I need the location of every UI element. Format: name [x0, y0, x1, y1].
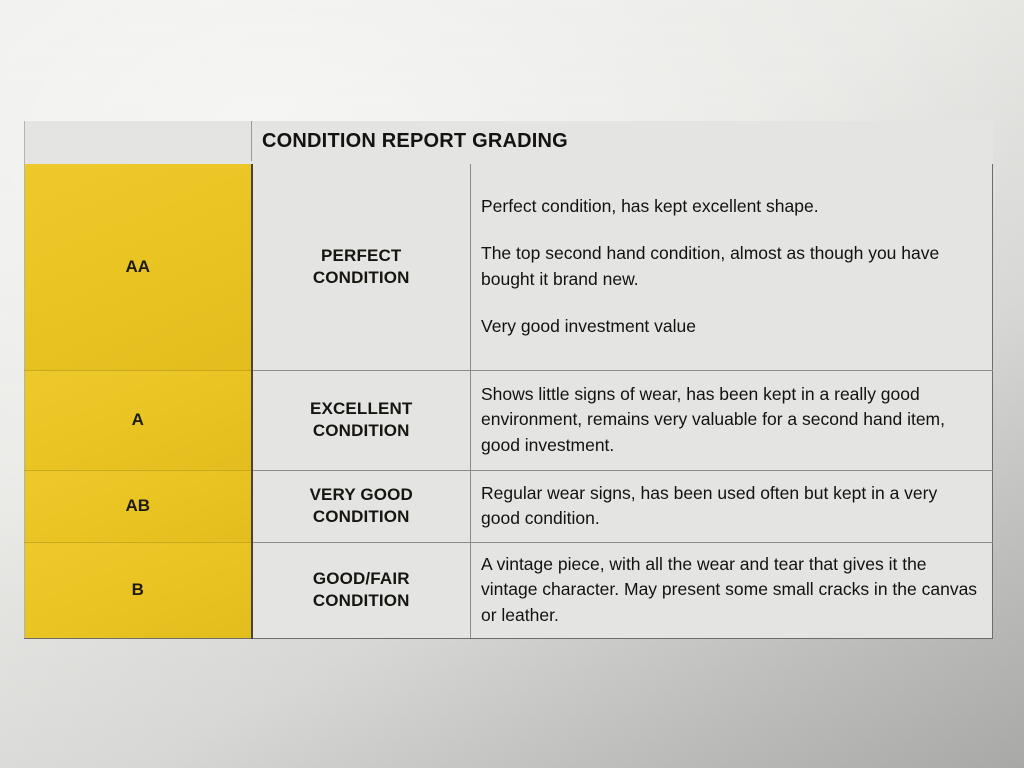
table-row: AA PERFECT CONDITION Perfect condition, … [25, 164, 993, 370]
header-band: CONDITION REPORT GRADING [252, 121, 993, 161]
condition-report-grading-table: CONDITION REPORT GRADING AA PERFECT COND… [24, 121, 993, 639]
condition-label-line2: CONDITION [313, 268, 410, 287]
table-row: A EXCELLENT CONDITION Shows little signs… [25, 370, 993, 470]
page-title: CONDITION REPORT GRADING [252, 121, 993, 161]
condition-label-line1: VERY GOOD [310, 485, 413, 504]
grade-badge: A [25, 370, 252, 470]
condition-label: PERFECT CONDITION [252, 164, 471, 370]
condition-description: A vintage piece, with all the wear and t… [471, 542, 993, 638]
condition-label: EXCELLENT CONDITION [252, 370, 471, 470]
grade-badge: AA [25, 164, 252, 370]
description-paragraph: Very good investment value [481, 314, 980, 339]
condition-label-line1: GOOD/FAIR [313, 569, 410, 588]
description-paragraph: The top second hand condition, almost as… [481, 241, 980, 292]
condition-label-line1: PERFECT [321, 246, 401, 265]
condition-description: Regular wear signs, has been used often … [471, 470, 993, 542]
grade-badge: B [25, 542, 252, 638]
condition-label-line2: CONDITION [313, 507, 410, 526]
condition-label-line1: EXCELLENT [310, 399, 412, 418]
table-row: B GOOD/FAIR CONDITION A vintage piece, w… [25, 542, 993, 638]
condition-description: Perfect condition, has kept excellent sh… [471, 164, 993, 370]
table-header-row: CONDITION REPORT GRADING [25, 121, 993, 161]
description-paragraph: Regular wear signs, has been used often … [481, 481, 980, 532]
condition-label-line2: CONDITION [313, 421, 410, 440]
description-paragraph: Perfect condition, has kept excellent sh… [481, 194, 980, 219]
description-paragraph: Shows little signs of wear, has been kep… [481, 382, 980, 458]
header-band-left-stub [25, 121, 252, 161]
condition-label-line2: CONDITION [313, 591, 410, 610]
description-paragraph: A vintage piece, with all the wear and t… [481, 552, 980, 628]
condition-description: Shows little signs of wear, has been kep… [471, 370, 993, 470]
table-row: AB VERY GOOD CONDITION Regular wear sign… [25, 470, 993, 542]
condition-label: GOOD/FAIR CONDITION [252, 542, 471, 638]
grade-badge: AB [25, 470, 252, 542]
condition-label: VERY GOOD CONDITION [252, 470, 471, 542]
